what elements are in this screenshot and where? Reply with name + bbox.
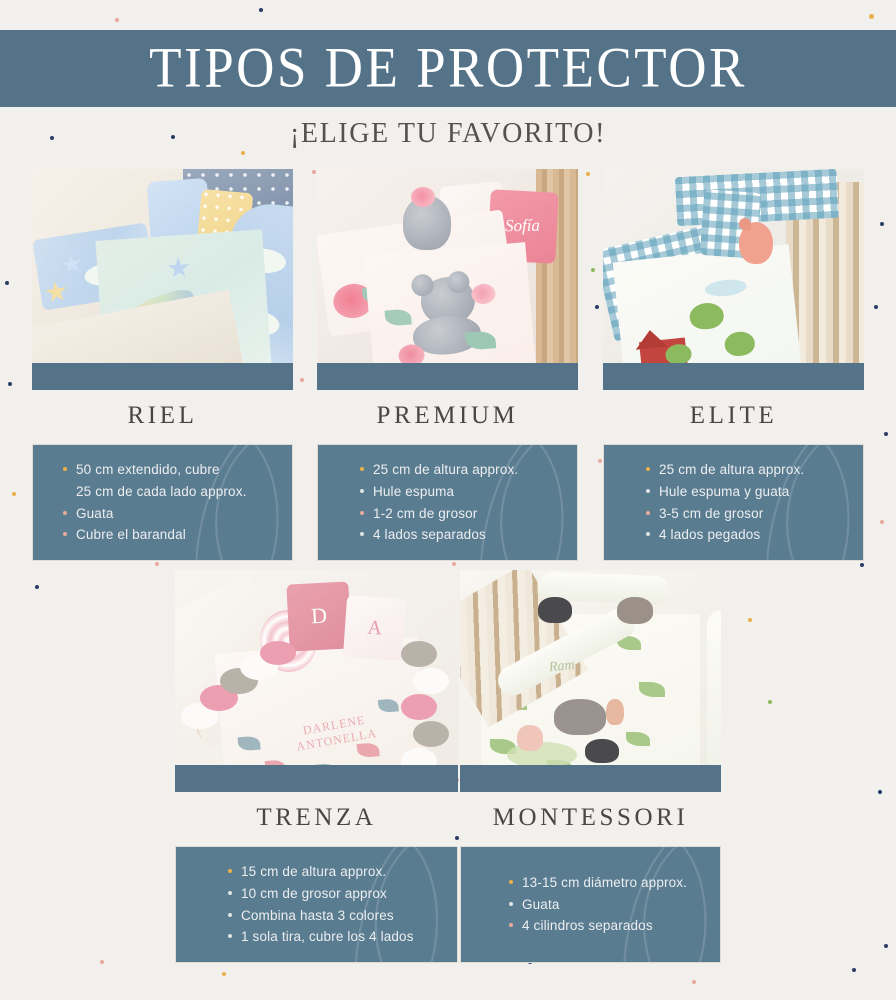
spec-item: 1 sola tira, cubre los 4 lados (228, 926, 441, 948)
braid-segment (413, 721, 449, 747)
photo-trenza: DARLENE ANTONELLA D A (175, 570, 458, 792)
card-trenza[interactable]: DARLENE ANTONELLA D A (175, 570, 458, 963)
confetti-dot (241, 151, 245, 155)
photo-trenza-image: DARLENE ANTONELLA D A (175, 570, 458, 792)
confetti-dot (692, 980, 696, 984)
child-motif (606, 699, 624, 725)
confetti-dot (586, 172, 590, 176)
confetti-dot (591, 268, 595, 272)
photo-strip-premium (317, 363, 578, 390)
card-montessori[interactable]: Ram MONTESSORI 13-15 cm diámetro approx. (460, 570, 721, 963)
sheet-name-text: Ram (548, 657, 575, 676)
confetti-dot (884, 432, 888, 436)
card-elite[interactable]: ELITE 25 cm de altura approx. Hule espum… (603, 169, 864, 561)
card-title-premium: PREMIUM (317, 402, 578, 430)
confetti-dot (880, 222, 884, 226)
photo-strip-montessori (460, 765, 721, 792)
confetti-dot (115, 18, 119, 22)
spec-item: Cubre el barandal (63, 524, 276, 546)
confetti-dot (878, 790, 882, 794)
page-subtitle: ¡ELIGE TU FAVORITO! (0, 118, 896, 150)
leaf-motif (238, 736, 261, 752)
card-title-montessori: MONTESSORI (460, 804, 721, 832)
panther-motif (585, 739, 619, 763)
card-riel[interactable]: RIEL 50 cm extendido, cubre 25 cm de cad… (32, 169, 293, 561)
photo-strip-riel (32, 363, 293, 390)
bear-motif (617, 597, 653, 624)
header-banner: TIPOS DE PROTECTOR (0, 30, 896, 107)
spec-list-premium: 25 cm de altura approx. Hule espuma 1-2 … (360, 459, 561, 546)
card-title-trenza: TRENZA (175, 804, 458, 832)
star-motif (60, 253, 83, 276)
scene-premium: Sofía (317, 169, 578, 390)
spec-list-montessori: 13-15 cm diámetro approx. Guata 4 cilind… (509, 872, 704, 938)
confetti-dot (598, 459, 602, 463)
spec-item: Hule espuma y guata (646, 481, 847, 503)
spec-list-riel: 50 cm extendido, cubre 25 cm de cada lad… (63, 459, 276, 546)
spec-item: Combina hasta 3 colores (228, 905, 441, 927)
confetti-dot (259, 8, 263, 12)
confetti-dot (312, 170, 316, 174)
spec-item: 1-2 cm de grosor (360, 503, 561, 525)
spec-box-trenza: 15 cm de altura approx. 10 cm de grosor … (175, 846, 458, 963)
photo-riel-image (32, 169, 293, 390)
braid-segment (401, 694, 437, 720)
photo-strip-trenza (175, 765, 458, 792)
card-premium[interactable]: Sofía (317, 169, 578, 561)
photo-elite-image (603, 169, 864, 390)
braid-segment (413, 668, 449, 694)
confetti-dot (869, 14, 874, 19)
braid-segment (260, 641, 296, 665)
confetti-dot (12, 492, 16, 496)
photo-elite (603, 169, 864, 390)
confetti-dot (8, 382, 12, 386)
confetti-dot (748, 618, 752, 622)
pillow-name-text: Sofía (506, 216, 541, 237)
tree-motif (688, 302, 725, 331)
confetti-dot (852, 968, 856, 972)
confetti-dot (35, 585, 39, 589)
spec-item: 25 cm de altura approx. (646, 459, 847, 481)
spec-item: Guata (509, 894, 704, 916)
tree-motif (723, 330, 755, 357)
confetti-dot (595, 305, 599, 309)
leaf-motif (626, 732, 650, 746)
card-title-riel: RIEL (32, 402, 293, 430)
confetti-dot (300, 378, 304, 382)
panther-motif (538, 597, 572, 623)
spec-box-montessori: 13-15 cm diámetro approx. Guata 4 cilind… (460, 846, 721, 963)
koala-plush-flower (411, 187, 435, 207)
confetti-dot (5, 281, 9, 285)
confetti-dot (860, 563, 864, 567)
scene-trenza: DARLENE ANTONELLA D A (175, 570, 458, 792)
spec-item: 4 lados separados (360, 524, 561, 546)
braid-segment (401, 641, 437, 667)
photo-montessori: Ram (460, 570, 721, 792)
confetti-dot (874, 305, 878, 309)
photo-strip-elite (603, 363, 864, 390)
photo-premium-image: Sofía (317, 169, 578, 390)
page-title: TIPOS DE PROTECTOR (149, 40, 747, 97)
confetti-dot (884, 944, 888, 948)
infographic-page: TIPOS DE PROTECTOR ¡ELIGE TU FAVORITO! (0, 0, 896, 1000)
spec-item: 3-5 cm de grosor (646, 503, 847, 525)
spec-item: 4 cilindros separados (509, 915, 704, 937)
spec-item: 15 cm de altura approx. (228, 861, 441, 883)
elephant-motif (554, 699, 606, 735)
spec-list-elite: 25 cm de altura approx. Hule espuma y gu… (646, 459, 847, 546)
leaf-motif (639, 682, 665, 697)
photo-riel (32, 169, 293, 390)
confetti-dot (880, 520, 884, 524)
rabbit-motif (517, 725, 543, 751)
spec-item: 13-15 cm diámetro approx. (509, 872, 704, 894)
spec-box-riel: 50 cm extendido, cubre 25 cm de cada lad… (32, 444, 293, 561)
spec-item: Guata (63, 503, 276, 525)
leaf-motif (385, 308, 412, 326)
spec-item: 4 lados pegados (646, 524, 847, 546)
star-motif (44, 279, 69, 304)
cloud-motif (704, 278, 747, 298)
confetti-dot (452, 562, 456, 566)
scene-riel (32, 169, 293, 390)
pillow-letter-d: D (286, 582, 352, 652)
confetti-dot (100, 960, 104, 964)
spec-list-trenza: 15 cm de altura approx. 10 cm de grosor … (228, 861, 441, 948)
spec-box-elite: 25 cm de altura approx. Hule espuma y gu… (603, 444, 864, 561)
confetti-dot (222, 972, 226, 976)
photo-montessori-image: Ram (460, 570, 721, 792)
scene-montessori: Ram (460, 570, 721, 792)
confetti-dot (155, 562, 159, 566)
pig-plush-ear (739, 218, 751, 230)
star-motif (167, 257, 190, 280)
spec-item: 25 cm de altura approx. (360, 459, 561, 481)
spec-box-premium: 25 cm de altura approx. Hule espuma 1-2 … (317, 444, 578, 561)
spec-item: 10 cm de grosor approx (228, 883, 441, 905)
pillow-letter-a: A (343, 595, 407, 661)
leaf-motif (357, 743, 380, 759)
spec-item: 50 cm extendido, cubre 25 cm de cada lad… (63, 459, 276, 503)
card-title-elite: ELITE (603, 402, 864, 430)
spec-item: Hule espuma (360, 481, 561, 503)
photo-premium: Sofía (317, 169, 578, 390)
scene-elite (603, 169, 864, 390)
confetti-dot (768, 700, 772, 704)
